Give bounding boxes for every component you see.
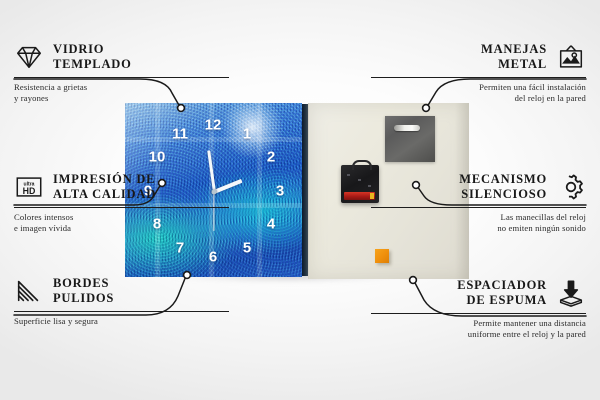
feature-mecanismo-silencioso: MECANISMO SILENCIOSO Las manecillas del …	[371, 172, 586, 235]
feature-header: BORDES PULIDOS	[14, 276, 229, 307]
feature-divider	[14, 311, 229, 312]
feature-description: Las manecillas del reloj no emiten ningú…	[371, 212, 586, 235]
polished-edges-icon	[14, 276, 44, 306]
clock-number: 5	[243, 241, 251, 256]
feature-title: MANEJAS METAL	[481, 42, 547, 73]
feature-description: Resistencia a grietas y rayones	[14, 82, 229, 105]
infographic-canvas: 12 1 2 3 4 5 6 7 8 9 10 11	[0, 0, 600, 400]
feature-title: VIDRIO TEMPLADO	[53, 42, 132, 73]
clock-number: 4	[267, 217, 275, 232]
framed-picture-hanging-icon	[556, 42, 586, 72]
mechanism-detail	[347, 174, 350, 176]
clock-number: 3	[276, 184, 284, 199]
feature-divider	[371, 207, 586, 208]
clock-number: 2	[267, 150, 275, 165]
feature-header: MANEJAS METAL	[371, 42, 586, 73]
feature-description: Colores intensos e imagen vívida	[14, 212, 229, 235]
clock-number: 10	[149, 150, 166, 165]
feature-vidrio-templado: VIDRIO TEMPLADO Resistencia a grietas y …	[14, 42, 229, 105]
feature-bordes-pulidos: BORDES PULIDOS Superficie lisa y segura	[14, 276, 229, 327]
feature-divider	[371, 313, 586, 314]
feature-espaciador-de-espuma: ESPACIADOR DE ESPUMA Permite mantener un…	[371, 278, 586, 341]
ultra-hd-icon: ultra HD	[14, 172, 44, 202]
feature-manejas-metal: MANEJAS METAL Permiten una fácil instala…	[371, 42, 586, 105]
feature-title: IMPRESIÓN DE ALTA CALIDAD	[53, 172, 156, 203]
feature-header: VIDRIO TEMPLADO	[14, 42, 229, 73]
foam-spacer	[375, 249, 389, 263]
clock-number: 7	[176, 241, 184, 256]
diamond-icon	[14, 42, 44, 72]
svg-text:HD: HD	[23, 186, 36, 196]
feature-header: ESPACIADOR DE ESPUMA	[371, 278, 586, 309]
mechanism-detail	[358, 179, 361, 181]
clock-number: 6	[209, 250, 217, 265]
feature-title: ESPACIADOR DE ESPUMA	[457, 278, 547, 309]
feature-description: Permite mantener una distancia uniforme …	[371, 318, 586, 341]
metal-hanger-plate	[385, 116, 435, 162]
feature-description: Permiten una fácil instalación del reloj…	[371, 82, 586, 105]
feature-divider	[14, 77, 229, 78]
feature-header: ultra HD IMPRESIÓN DE ALTA CALIDAD	[14, 172, 229, 203]
foam-spacer-arrow-icon	[556, 278, 586, 308]
clock-number: 1	[243, 127, 251, 142]
feature-impresion-alta-calidad: ultra HD IMPRESIÓN DE ALTA CALIDAD Color…	[14, 172, 229, 235]
feature-title: MECANISMO SILENCIOSO	[459, 172, 547, 203]
feature-title: BORDES PULIDOS	[53, 276, 114, 307]
clock-number: 11	[172, 127, 188, 142]
gear-icon	[556, 172, 586, 202]
feature-divider	[14, 207, 229, 208]
feature-description: Superficie lisa y segura	[14, 316, 229, 327]
clock-number: 12	[205, 118, 222, 133]
feature-divider	[371, 77, 586, 78]
hanger-slot	[394, 125, 420, 131]
mechanism-hook	[352, 160, 372, 170]
feature-header: MECANISMO SILENCIOSO	[371, 172, 586, 203]
